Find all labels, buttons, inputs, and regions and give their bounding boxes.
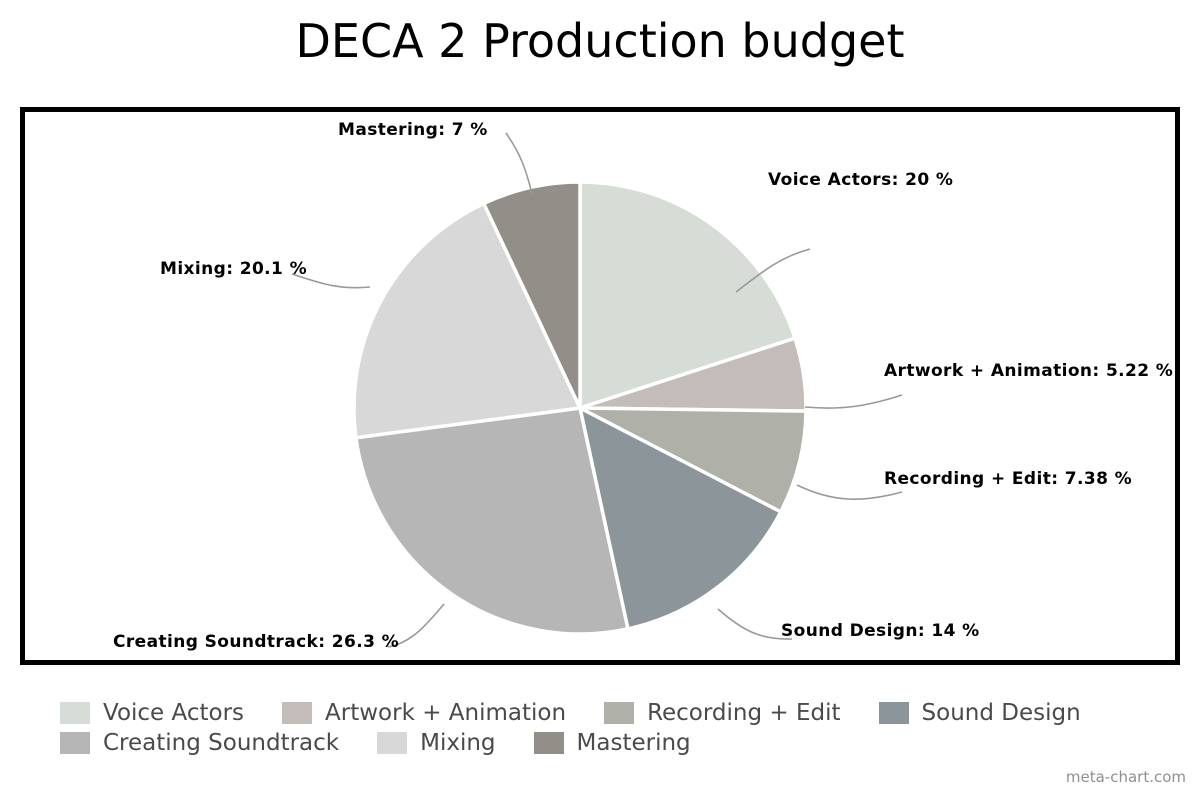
legend-item-label: Recording + Edit	[647, 700, 840, 726]
legend-item[interactable]: Sound Design	[879, 700, 1081, 726]
legend-item[interactable]: Artwork + Animation	[282, 700, 566, 726]
legend-item[interactable]: Mixing	[377, 730, 495, 756]
slice-label-artwork-animation: Artwork + Animation: 5.22 %	[884, 361, 1173, 381]
legend-item[interactable]: Creating Soundtrack	[60, 730, 339, 756]
legend-item[interactable]: Recording + Edit	[604, 700, 840, 726]
slice-label-recording-edit: Recording + Edit: 7.38 %	[884, 469, 1132, 489]
leader-line-mastering	[506, 133, 532, 194]
legend-swatch-icon	[282, 702, 312, 724]
legend-swatch-icon	[604, 702, 634, 724]
legend-item[interactable]: Mastering	[534, 730, 691, 756]
legend-item-label: Mastering	[577, 730, 691, 756]
legend-item-label: Sound Design	[922, 700, 1081, 726]
legend-item-label: Voice Actors	[103, 700, 244, 726]
pie-chart-figure: DECA 2 Production budget Voice Actors: 2…	[0, 0, 1200, 800]
pie-slices	[354, 182, 806, 634]
legend: Voice ActorsArtwork + AnimationRecording…	[60, 698, 1150, 758]
pie-graphic	[20, 107, 1180, 665]
watermark: meta-chart.com	[1066, 768, 1186, 786]
leader-line-artwork-animation	[805, 395, 902, 408]
pie-slice[interactable]	[356, 408, 628, 634]
page-title: DECA 2 Production budget	[0, 14, 1200, 68]
legend-swatch-icon	[879, 702, 909, 724]
slice-label-voice-actors: Voice Actors: 20 %	[768, 170, 953, 190]
legend-swatch-icon	[60, 732, 90, 754]
slice-label-mastering: Mastering: 7 %	[338, 120, 488, 140]
legend-item-label: Mixing	[420, 730, 495, 756]
slice-label-sound-design: Sound Design: 14 %	[781, 621, 980, 641]
legend-row: Creating SoundtrackMixingMastering	[60, 728, 1150, 758]
slice-label-mixing: Mixing: 20.1 %	[160, 259, 307, 279]
legend-swatch-icon	[534, 732, 564, 754]
legend-item-label: Artwork + Animation	[325, 700, 566, 726]
legend-item[interactable]: Voice Actors	[60, 700, 244, 726]
legend-swatch-icon	[377, 732, 407, 754]
legend-row: Voice ActorsArtwork + AnimationRecording…	[60, 698, 1150, 728]
legend-item-label: Creating Soundtrack	[103, 730, 339, 756]
legend-swatch-icon	[60, 702, 90, 724]
slice-label-creating-soundtrack: Creating Soundtrack: 26.3 %	[113, 632, 399, 652]
